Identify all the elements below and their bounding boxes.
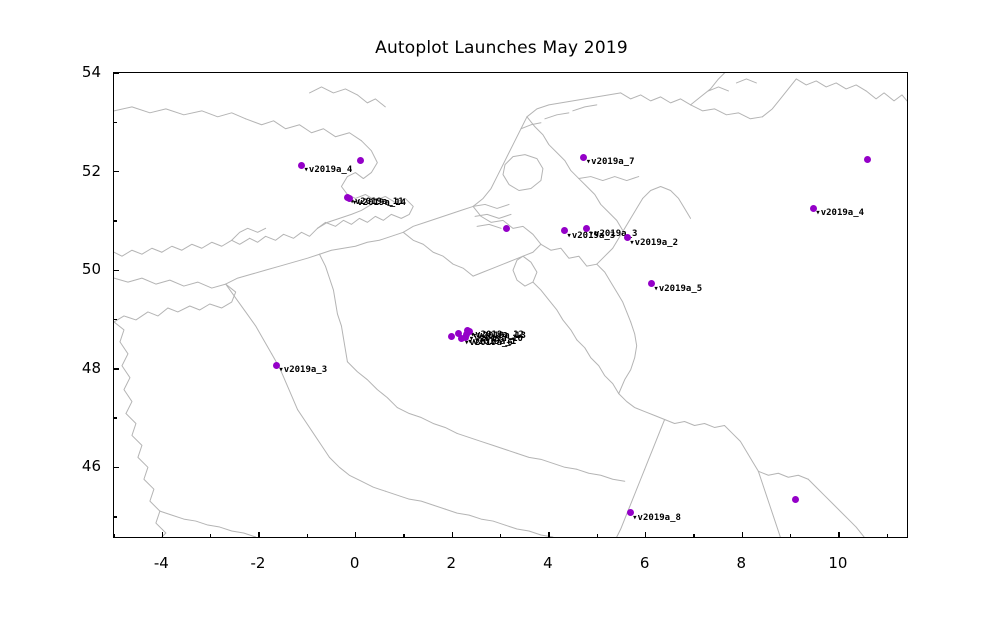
scatter-marker[interactable]	[792, 496, 799, 503]
scatter-point-label: ▾v2019a_4	[304, 166, 353, 175]
scatter-point-label: ▾v2019a_14	[352, 199, 406, 208]
scatter-point-label: ▾v2019a_2	[629, 239, 678, 248]
scatter-point-label: ▾v2019a_8	[632, 514, 681, 523]
figure-canvas: Autoplot Launches May 2019	[0, 0, 1003, 633]
scatter-point-label: ▾v2019a_4	[815, 209, 864, 218]
scatter-point-label: ▾v2019a_3	[278, 366, 327, 375]
scatter-marker[interactable]	[455, 330, 462, 337]
x-tick-label: 8	[736, 554, 746, 572]
y-tick-label: 50	[61, 260, 101, 278]
x-tick-label: 6	[640, 554, 650, 572]
scatter-marker[interactable]	[503, 225, 510, 232]
scatter-marker[interactable]	[448, 333, 455, 340]
y-tick-label: 46	[61, 457, 101, 475]
scatter-points-layer: ▾v2019a_4▾v2019a_11▾v2019a_14▾v2019a_3▾v…	[114, 73, 907, 537]
x-tick-label: 2	[447, 554, 457, 572]
page-title: Autoplot Launches May 2019	[0, 38, 1003, 58]
y-tick-label: 54	[61, 63, 101, 81]
scatter-point-label: ▾v2019a_7	[586, 158, 635, 167]
x-tick-label: 4	[543, 554, 553, 572]
scatter-point-label: ▾v2019a_6	[464, 339, 513, 348]
scatter-point-label: ▾v2019a_5	[653, 285, 702, 294]
x-tick-label: -4	[154, 554, 169, 572]
scatter-marker[interactable]	[357, 157, 364, 164]
x-tick-label: -2	[251, 554, 266, 572]
plot-area[interactable]: ▾v2019a_4▾v2019a_11▾v2019a_14▾v2019a_3▾v…	[113, 72, 908, 538]
scatter-marker[interactable]	[864, 156, 871, 163]
y-tick-label: 52	[61, 162, 101, 180]
x-tick-label: 0	[350, 554, 360, 572]
y-tick-label: 48	[61, 359, 101, 377]
x-tick-label: 10	[828, 554, 847, 572]
